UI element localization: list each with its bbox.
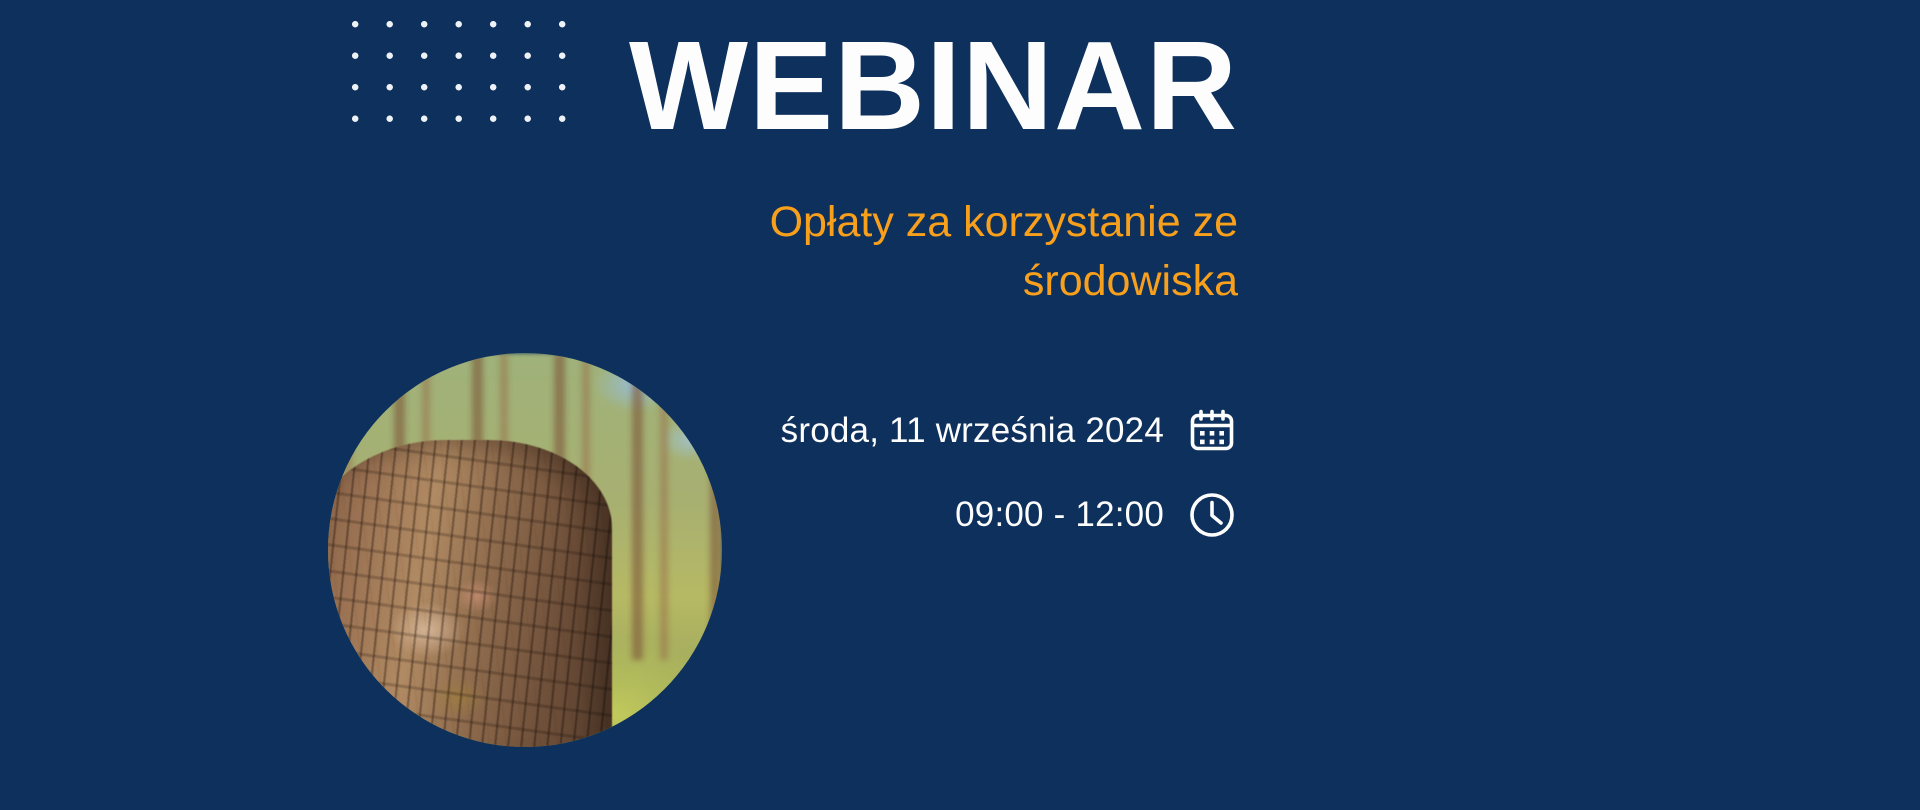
- subtitle-line-1: Opłaty za korzystanie ze: [770, 198, 1238, 246]
- page-title: WEBINAR: [0, 0, 1238, 149]
- webinar-banner: WEBINAR Opłaty za korzystanie ze środowi…: [0, 0, 1920, 810]
- calendar-icon: [1186, 405, 1238, 457]
- event-date-row: środa, 11 września 2024: [0, 405, 1238, 457]
- event-time-text: 09:00 - 12:00: [955, 495, 1164, 535]
- banner-text-column: WEBINAR Opłaty za korzystanie ze środowi…: [0, 0, 1238, 573]
- clock-icon: [1186, 489, 1238, 541]
- event-date-text: środa, 11 września 2024: [781, 411, 1164, 451]
- event-meta: środa, 11 września 2024: [0, 405, 1238, 541]
- subtitle-line-2: środowiska: [1023, 257, 1238, 305]
- event-time-row: 09:00 - 12:00: [0, 489, 1238, 541]
- banner-subtitle: Opłaty za korzystanie ze środowiska: [0, 149, 1238, 311]
